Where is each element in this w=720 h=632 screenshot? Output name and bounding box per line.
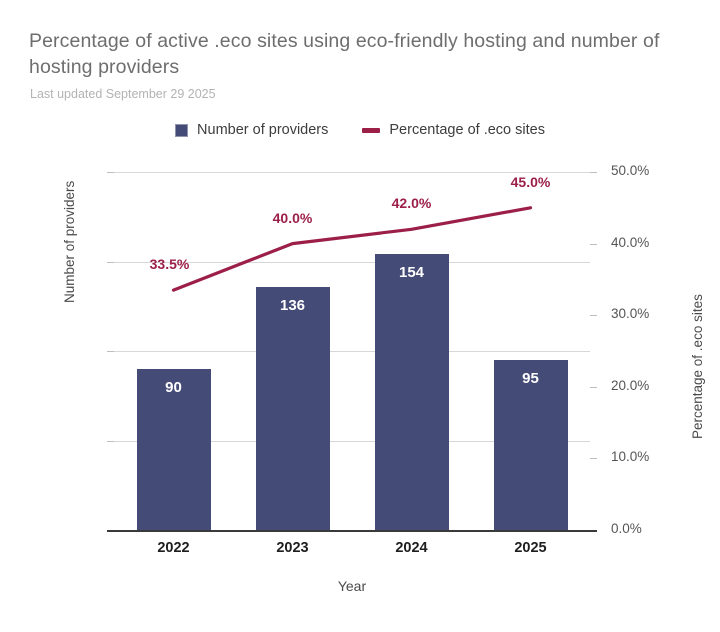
plot-area: 0501001502000.0%10.0%20.0%30.0%40.0%50.0… xyxy=(114,172,590,530)
chart-legend: Number of providers Percentage of .eco s… xyxy=(0,122,720,138)
page-title: Percentage of active .eco sites using ec… xyxy=(29,28,679,80)
y-axis-right-title: Percentage of .eco sites xyxy=(690,294,705,439)
x-axis-line xyxy=(114,530,590,532)
y-axis-right-tick xyxy=(590,315,597,316)
legend-item-percentage[interactable]: Percentage of .eco sites xyxy=(362,122,545,138)
y-axis-right-tick xyxy=(590,387,597,388)
legend-label-percentage: Percentage of .eco sites xyxy=(389,122,545,138)
percentage-value-label: 33.5% xyxy=(150,256,190,272)
percentage-value-label: 40.0% xyxy=(273,210,313,226)
y-axis-right-tick-label: 0.0% xyxy=(611,521,642,536)
legend-square-swatch-icon xyxy=(175,124,188,137)
legend-label-providers: Number of providers xyxy=(197,122,328,138)
y-axis-right-tick-label: 30.0% xyxy=(611,306,649,321)
y-axis-left-tick xyxy=(107,530,114,532)
y-axis-left-tick xyxy=(107,351,114,352)
x-tick-label-2022: 2022 xyxy=(157,540,189,556)
line-series-svg xyxy=(114,172,590,530)
y-axis-left-tick xyxy=(107,441,114,442)
chart-subtitle: Last updated September 29 2025 xyxy=(30,87,216,101)
y-axis-left-tick xyxy=(107,262,114,263)
x-tick-label-2023: 2023 xyxy=(276,540,308,556)
legend-line-swatch-icon xyxy=(362,128,380,133)
y-axis-right-tick-label: 40.0% xyxy=(611,235,649,250)
y-axis-right-tick xyxy=(590,530,597,532)
percentage-value-label: 45.0% xyxy=(511,174,551,190)
y-axis-right-tick-label: 20.0% xyxy=(611,378,649,393)
y-axis-right-tick-label: 50.0% xyxy=(611,163,649,178)
y-axis-right-tick xyxy=(590,244,597,245)
x-tick-label-2025: 2025 xyxy=(514,540,546,556)
y-axis-left-tick xyxy=(107,172,114,173)
y-axis-left-title: Number of providers xyxy=(62,181,77,303)
legend-item-providers[interactable]: Number of providers xyxy=(175,122,328,138)
y-axis-right-tick-label: 10.0% xyxy=(611,449,649,464)
y-axis-right-tick xyxy=(590,458,597,459)
percentage-value-label: 42.0% xyxy=(392,195,432,211)
x-axis-title: Year xyxy=(114,578,590,594)
chart-container: Percentage of active .eco sites using ec… xyxy=(0,0,720,632)
percentage-line xyxy=(174,208,531,290)
y-axis-right-tick xyxy=(590,172,597,173)
x-tick-label-2024: 2024 xyxy=(395,540,427,556)
